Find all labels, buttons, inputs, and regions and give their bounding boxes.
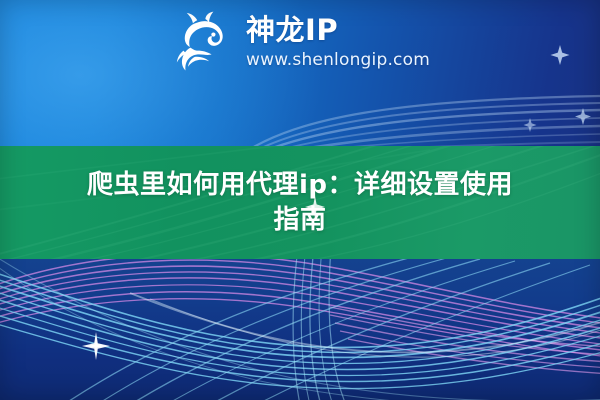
brand-name: 神龙IP <box>246 16 338 45</box>
header-band: 神龙IP www.shenlongip.com <box>0 0 600 150</box>
brand-url: www.shenlongip.com <box>246 52 430 69</box>
wave-mesh-graphic <box>0 259 600 400</box>
dragon-head-icon <box>170 11 232 73</box>
title-band: 爬虫里如何用代理ip：详细设置使用 指南 <box>0 146 600 259</box>
title-line-2: 指南 <box>273 203 326 237</box>
wave-section <box>0 259 600 400</box>
logo-text-block: 神龙IP www.shenlongip.com <box>246 16 430 69</box>
page-title: 爬虫里如何用代理ip：详细设置使用 指南 <box>0 146 600 259</box>
title-line-1: 爬虫里如何用代理ip：详细设置使用 <box>87 168 513 202</box>
promo-banner: 神龙IP www.shenlongip.com 爬虫里如何用代理ip：详细设置使… <box>0 0 600 400</box>
logo-lockup[interactable]: 神龙IP www.shenlongip.com <box>0 6 600 78</box>
